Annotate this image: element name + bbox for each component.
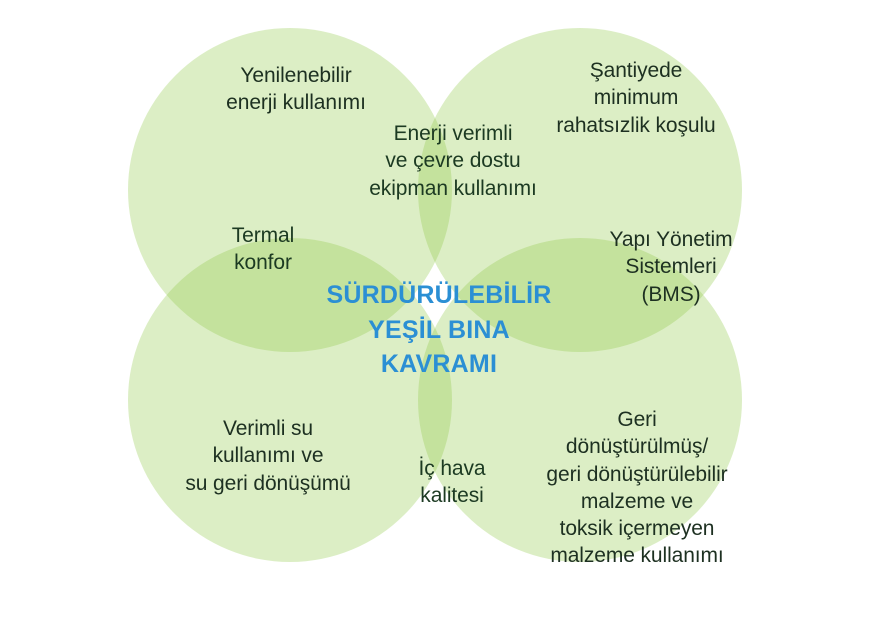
label-building-management-systems: Yapı Yönetim Sistemleri (BMS) [568,226,774,308]
label-indoor-air-quality: İç hava kalitesi [380,455,524,510]
label-renewable-energy: Yenilenebilir enerji kullanımı [176,62,416,117]
label-efficient-eco-equipment: Enerji verimli ve çevre dostu ekipman ku… [336,120,570,202]
center-title: SÜRDÜRÜLEBİLİR YEŞİL BINA KAVRAMI [315,278,563,382]
label-water-efficiency-recycling: Verimli su kullanımı ve su geri dönüşümü [152,415,384,497]
label-thermal-comfort: Termal konfor [170,222,356,277]
label-recycled-nontoxic-materials: Geri dönüştürülmüş/ geri dönüştürülebili… [508,406,766,570]
diagram-canvas: Yenilenebilir enerji kullanımı Şantiyede… [0,0,870,628]
